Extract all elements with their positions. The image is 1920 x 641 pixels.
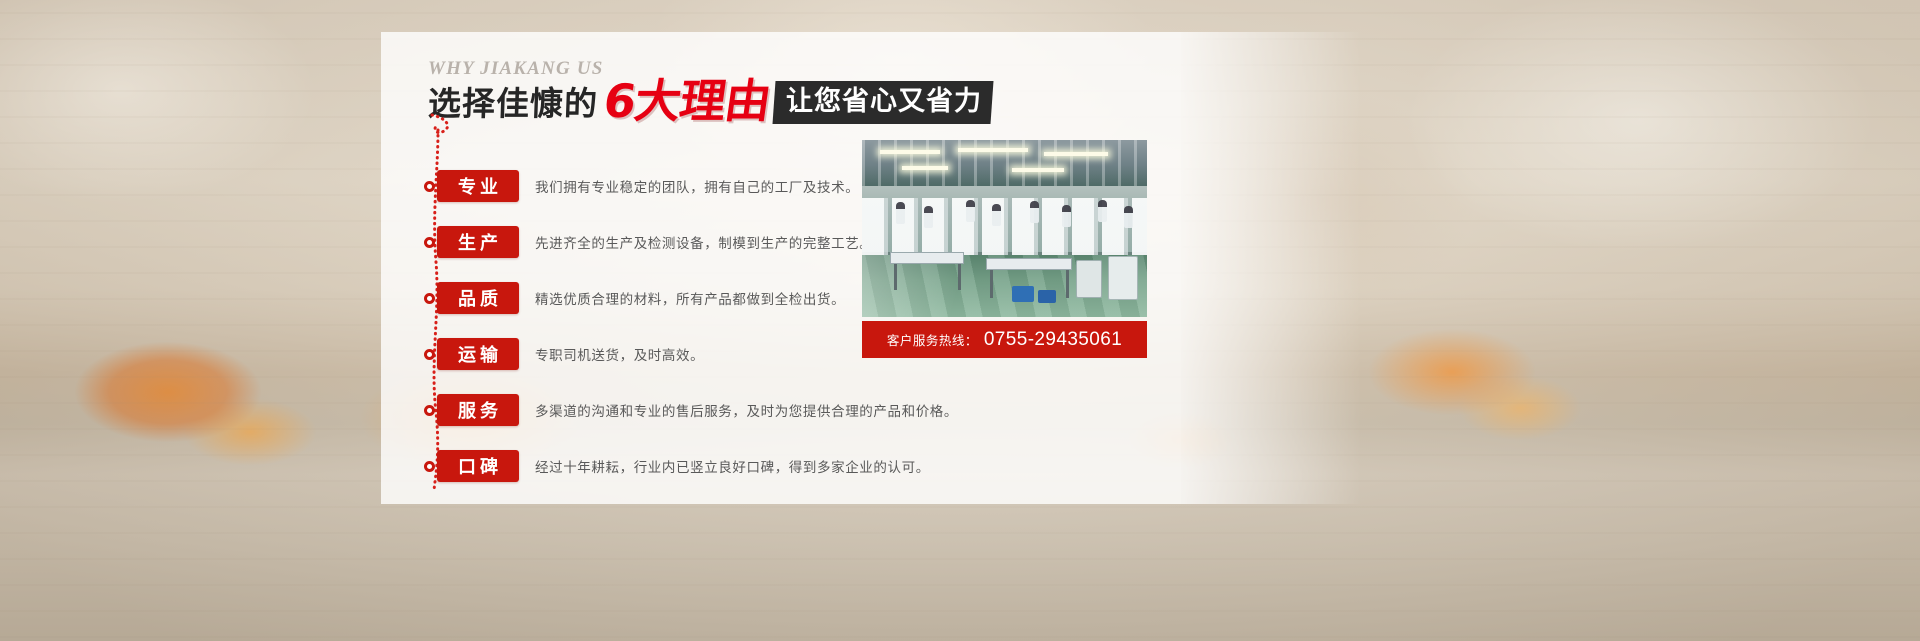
timeline-node-icon <box>424 181 435 192</box>
photo-bench-leg <box>958 264 961 290</box>
timeline-node-icon <box>424 293 435 304</box>
photo-lamp <box>958 148 1028 152</box>
heading-black-tag: 让您省心又省力 <box>773 81 994 124</box>
heading-highlight: 6大理由 <box>601 78 773 124</box>
hotline-bar[interactable]: 客户服务热线： 0755-29435061 <box>862 321 1147 358</box>
timeline-node-icon <box>424 461 435 472</box>
list-item[interactable]: 口碑 经过十年耕耘，行业内已竖立良好口碑，得到多家企业的认可。 <box>437 440 1137 492</box>
timeline-node-icon <box>424 405 435 416</box>
content-panel-fade <box>1181 32 1361 504</box>
timeline-node-icon <box>424 349 435 360</box>
photo-bench-leg <box>894 264 897 290</box>
photo-bench-leg <box>990 270 993 298</box>
hotline-label: 客户服务热线： <box>887 330 978 349</box>
factory-photo <box>862 140 1147 317</box>
reason-badge: 运输 <box>437 338 519 370</box>
photo-cabinet <box>1076 260 1102 298</box>
photo-ceiling <box>862 140 1147 186</box>
reason-description: 精选优质合理的材料，所有产品都做到全检出货。 <box>535 288 845 308</box>
photo-bin <box>1038 290 1056 303</box>
reason-badge: 服务 <box>437 394 519 426</box>
photo-worker <box>896 202 905 224</box>
photo-bench-leg <box>1066 270 1069 298</box>
heading-main-row: 选择佳慷的 6大理由 让您省心又省力 <box>428 78 992 124</box>
photo-cabinet <box>1108 256 1138 300</box>
reason-description: 先进齐全的生产及检测设备，制模到生产的完整工艺。 <box>535 232 873 252</box>
reason-badge: 生产 <box>437 226 519 258</box>
photo-lamp <box>880 150 940 154</box>
reason-badge: 品质 <box>437 282 519 314</box>
timeline-node-icon <box>424 237 435 248</box>
photo-bin <box>1012 286 1034 302</box>
photo-workbench <box>986 258 1072 270</box>
reason-description: 多渠道的沟通和专业的售后服务，及时为您提供合理的产品和价格。 <box>535 400 958 420</box>
reason-description: 专职司机送货，及时高效。 <box>535 344 704 364</box>
photo-worker <box>966 200 975 222</box>
photo-lamp <box>1012 168 1064 172</box>
photo-scene <box>862 140 1147 317</box>
photo-worker <box>1062 205 1071 227</box>
banner-stage: WHY JIAKANG US 选择佳慷的 6大理由 让您省心又省力 专业 我们拥… <box>0 0 1920 641</box>
photo-worker <box>1030 201 1039 223</box>
photo-worker <box>1098 200 1107 222</box>
photo-workers <box>862 188 1147 228</box>
photo-worker <box>1124 206 1133 228</box>
photo-lamp <box>902 166 948 170</box>
photo-workbench <box>890 252 964 264</box>
reason-badge: 口碑 <box>437 450 519 482</box>
photo-worker <box>992 204 1001 226</box>
reason-description: 我们拥有专业稳定的团队，拥有自己的工厂及技术。 <box>535 176 859 196</box>
photo-worker <box>924 206 933 228</box>
heading-black-tag-text: 让您省心又省力 <box>786 85 982 119</box>
banner-heading: WHY JIAKANG US 选择佳慷的 6大理由 让您省心又省力 <box>428 58 1108 120</box>
reason-description: 经过十年耕耘，行业内已竖立良好口碑，得到多家企业的认可。 <box>535 456 930 476</box>
heading-english-kicker: WHY JIAKANG US <box>428 58 604 80</box>
hotline-number: 0755-29435061 <box>984 329 1122 351</box>
list-item[interactable]: 服务 多渠道的沟通和专业的售后服务，及时为您提供合理的产品和价格。 <box>437 384 1137 436</box>
reason-badge: 专业 <box>437 170 519 202</box>
photo-lamp <box>1044 152 1108 156</box>
